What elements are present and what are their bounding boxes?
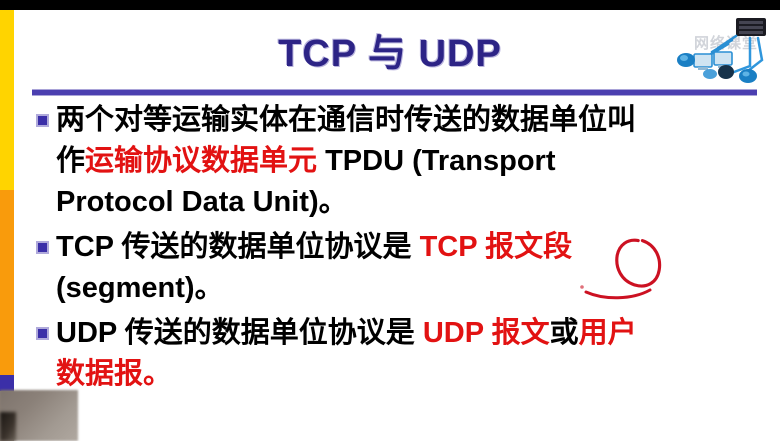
bullet-square-icon — [36, 327, 49, 340]
highlight-text: 用户 — [579, 317, 637, 349]
body-text: TPDU (Transport — [317, 145, 555, 177]
body-text: Protocol Data Unit)。 — [56, 186, 348, 218]
bullet-line: (segment)。 — [56, 268, 774, 309]
body-text: 或 — [550, 317, 579, 349]
bullet-item: TCP 传送的数据单位协议是 TCP 报文段(segment)。 — [26, 227, 774, 309]
bullet-line: 数据报。 — [56, 354, 774, 395]
title-divider-rule — [32, 89, 757, 96]
bullet-square-icon — [36, 241, 49, 254]
bullet-line: TCP 传送的数据单位协议是 TCP 报文段 — [56, 227, 774, 268]
body-text: 两个对等运输实体在通信时传送的数据单位叫 — [56, 104, 636, 136]
highlight-text: UDP 报文 — [423, 317, 550, 349]
body-text: UDP 传送的数据单位协议是 — [56, 317, 423, 349]
bullet-item: UDP 传送的数据单位协议是 UDP 报文或用户数据报。 — [26, 313, 774, 395]
top-letterbox-bar — [0, 0, 780, 10]
bullet-line: 两个对等运输实体在通信时传送的数据单位叫 — [56, 100, 774, 141]
body-text: TCP 传送的数据单位协议是 — [56, 231, 420, 263]
sidebar-segment-orange — [0, 190, 14, 375]
bullet-item: 两个对等运输实体在通信时传送的数据单位叫作运输协议数据单元 TPDU (Tran… — [26, 100, 774, 223]
sidebar-segment-yellow — [0, 10, 14, 190]
body-text: (segment)。 — [56, 272, 224, 304]
highlight-text: TCP 报文段 — [420, 231, 573, 263]
network-diagram-clipart-icon — [658, 14, 774, 86]
sidebar-segment-purple — [0, 375, 14, 391]
body-text: 作 — [56, 145, 85, 177]
bullet-line: Protocol Data Unit)。 — [56, 182, 774, 223]
bullet-square-icon — [36, 114, 49, 127]
highlight-text: 运输协议数据单元 — [85, 145, 317, 177]
bullet-line: UDP 传送的数据单位协议是 UDP 报文或用户 — [56, 313, 774, 354]
left-decorative-sidebar — [0, 10, 14, 441]
video-overlay-dark-shape — [0, 412, 16, 441]
highlight-text: 数据报。 — [56, 358, 172, 390]
bullet-line: 作运输协议数据单元 TPDU (Transport — [56, 141, 774, 182]
slide-body-content: 两个对等运输实体在通信时传送的数据单位叫作运输协议数据单元 TPDU (Tran… — [26, 100, 774, 399]
slide-canvas: TCP 与 UDP 网络课堂 两个对等运输实体在通信时 — [0, 0, 780, 441]
